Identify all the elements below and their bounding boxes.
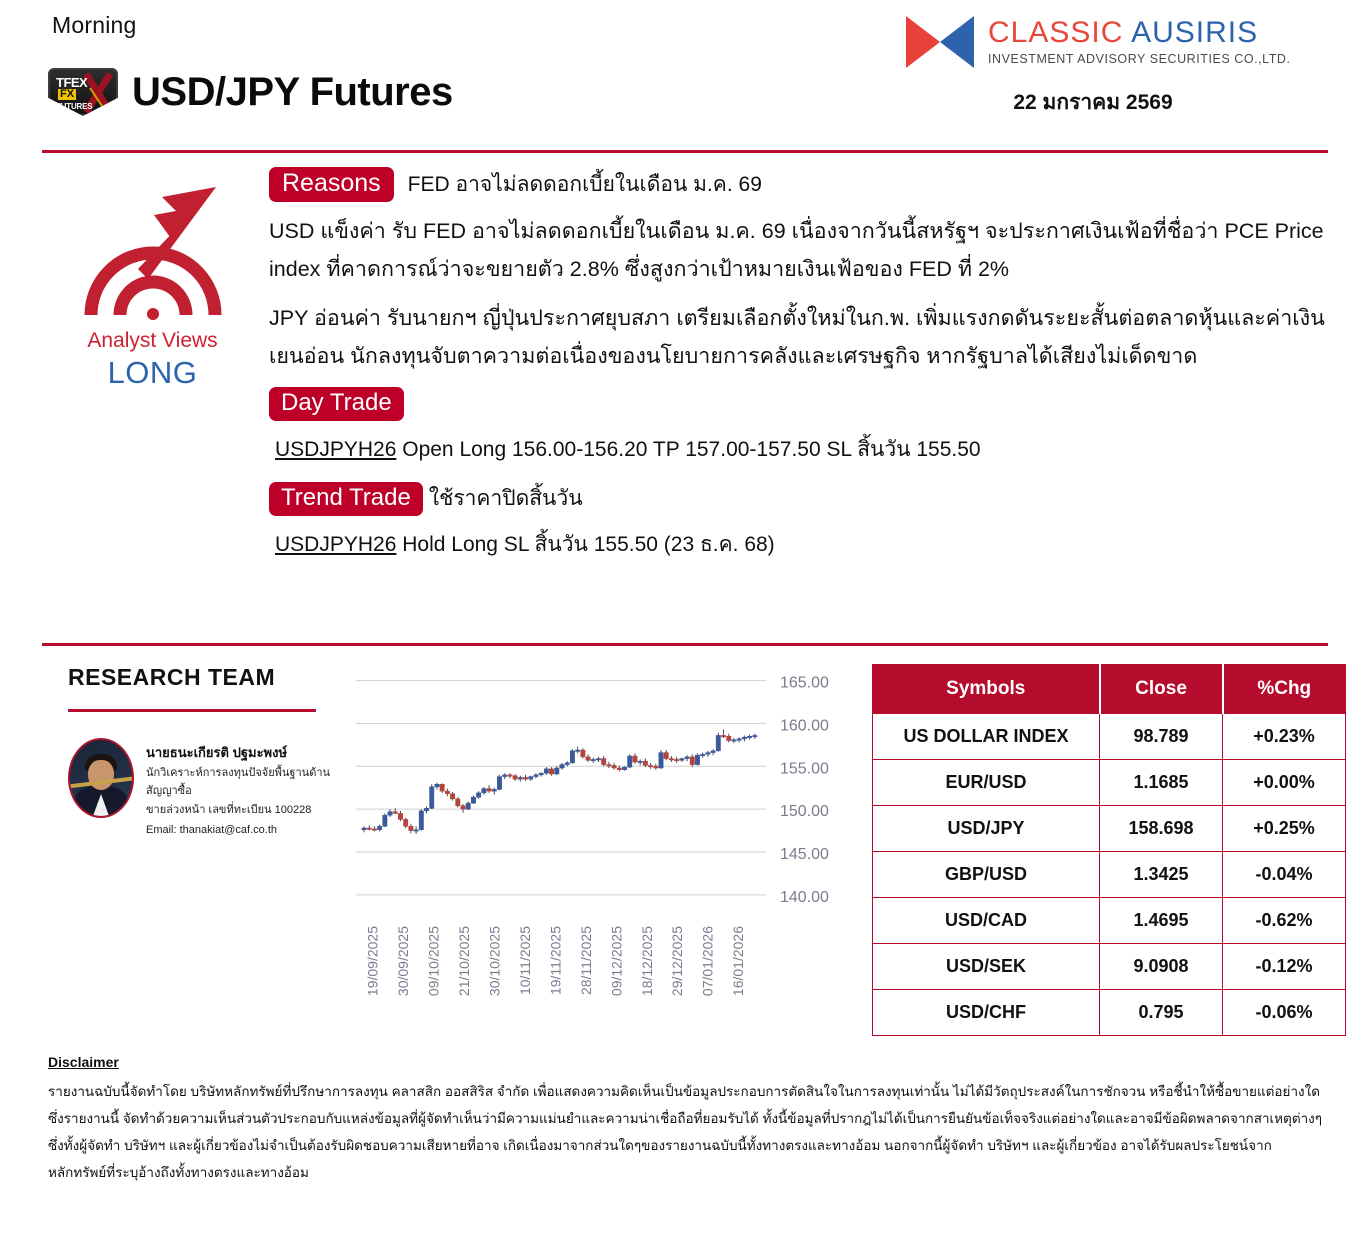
page-title: USD/JPY Futures bbox=[132, 70, 453, 115]
svg-text:07/01/2026: 07/01/2026 bbox=[700, 926, 716, 996]
day-trade-detail: Open Long 156.00-156.20 TP 157.00-157.50… bbox=[402, 438, 980, 461]
usdjpy-candlestick-chart: 140.00145.00150.00155.00160.00165.0019/0… bbox=[348, 664, 858, 1024]
svg-text:19/11/2025: 19/11/2025 bbox=[547, 926, 563, 995]
cell-chg: +0.00% bbox=[1223, 760, 1346, 806]
reasons-header: Reasons FED อาจไม่ลดดอกเบี้ยในเดือน ม.ค.… bbox=[269, 167, 1330, 202]
svg-text:10/11/2025: 10/11/2025 bbox=[517, 926, 533, 995]
reasons-body-2: JPY อ่อนค่า รับนายกฯ ญี่ปุ่นประกาศยุบสภา… bbox=[269, 299, 1330, 376]
report-date: 22 มกราคม 2569 bbox=[904, 86, 1282, 119]
fx-text: FX bbox=[58, 89, 76, 100]
page-header: Morning TFEX FX FUTURES USD/JPY Futures bbox=[40, 0, 1330, 150]
svg-text:09/12/2025: 09/12/2025 bbox=[608, 926, 624, 996]
session-label: Morning bbox=[52, 12, 137, 39]
cell-close: 1.1685 bbox=[1100, 760, 1223, 806]
cell-close: 1.4695 bbox=[1100, 898, 1223, 944]
research-team-underline bbox=[68, 709, 316, 712]
table-header-row: Symbols Close %Chg bbox=[873, 665, 1346, 714]
cell-chg: -0.62% bbox=[1223, 898, 1346, 944]
svg-text:21/10/2025: 21/10/2025 bbox=[456, 926, 472, 996]
col-chg: %Chg bbox=[1223, 665, 1346, 714]
analyst-name: นายธนะเกียรติ ปฐมะพงษ์ bbox=[146, 742, 340, 763]
avatar bbox=[68, 738, 134, 818]
cell-close: 1.3425 bbox=[1100, 852, 1223, 898]
trend-trade-line: USDJPYH26 Hold Long SL สิ้นวัน 155.50 (2… bbox=[275, 528, 1330, 561]
futures-text: FUTURES bbox=[56, 102, 92, 111]
day-trade-symbol: USDJPYH26 bbox=[275, 438, 396, 461]
brand-name-part2: AUSIRIS bbox=[1131, 16, 1258, 49]
brand-name: CLASSIC AUSIRIS bbox=[988, 18, 1291, 48]
reasons-body-1: USD แข็งค่า รับ FED อาจไม่ลดดอกเบี้ยในเด… bbox=[269, 212, 1330, 289]
cell-close: 98.789 bbox=[1100, 714, 1223, 760]
table-row: USD/SEK9.0908-0.12% bbox=[873, 944, 1346, 990]
classic-ausiris-logo-icon bbox=[904, 14, 976, 70]
analyst-email: Email: thanakiat@caf.co.th bbox=[146, 822, 340, 840]
svg-text:30/10/2025: 30/10/2025 bbox=[486, 926, 502, 996]
cell-symbol: GBP/USD bbox=[873, 852, 1100, 898]
reasons-headline: FED อาจไม่ลดดอกเบี้ยในเดือน ม.ค. 69 bbox=[408, 168, 762, 201]
brand-name-part1: CLASSIC bbox=[988, 16, 1123, 49]
research-team-panel: RESEARCH TEAM นายธนะเกียรติ ปฐมะพงษ์ นัก… bbox=[40, 664, 340, 1036]
svg-text:29/12/2025: 29/12/2025 bbox=[669, 926, 685, 996]
table-row: USD/JPY158.698+0.25% bbox=[873, 806, 1346, 852]
disclaimer-section: Disclaimer รายงานฉบับนี้จัดทำโดย บริษัทห… bbox=[40, 1036, 1330, 1186]
svg-text:09/10/2025: 09/10/2025 bbox=[426, 926, 442, 996]
disclaimer-line-4: หลักทรัพย์ที่ระบุอ้างถึงทั้งทางตรงและทาง… bbox=[48, 1159, 1326, 1186]
cell-symbol: EUR/USD bbox=[873, 760, 1100, 806]
col-symbols: Symbols bbox=[873, 665, 1100, 714]
table-row: USD/CHF0.795-0.06% bbox=[873, 990, 1346, 1036]
title-row: TFEX FX FUTURES USD/JPY Futures bbox=[48, 68, 453, 116]
svg-text:145.00: 145.00 bbox=[780, 846, 829, 863]
svg-text:150.00: 150.00 bbox=[780, 803, 829, 820]
table-row: EUR/USD1.1685+0.00% bbox=[873, 760, 1346, 806]
day-trade-badge: Day Trade bbox=[269, 387, 404, 421]
svg-text:155.00: 155.00 bbox=[780, 760, 829, 777]
analyst-role: นักวิเคราะห์การลงทุนปัจจัยพื้นฐานด้านสัญ… bbox=[146, 765, 340, 800]
analysis-section: Analyst Views LONG Reasons FED อาจไม่ลดด… bbox=[40, 153, 1330, 643]
quotes-table: Symbols Close %Chg US DOLLAR INDEX98.789… bbox=[872, 664, 1346, 1036]
target-arrow-icon bbox=[58, 175, 248, 325]
svg-text:28/11/2025: 28/11/2025 bbox=[578, 926, 594, 995]
disclaimer-line-2: ซึ่งรายงานนี้ จัดทำด้วยความเห็นส่วนตัวปร… bbox=[48, 1105, 1326, 1132]
trend-trade-detail: Hold Long SL สิ้นวัน 155.50 (23 ธ.ค. 68) bbox=[402, 533, 774, 556]
svg-text:16/01/2026: 16/01/2026 bbox=[730, 926, 746, 996]
cell-chg: -0.04% bbox=[1223, 852, 1346, 898]
day-trade-line: USDJPYH26 Open Long 156.00-156.20 TP 157… bbox=[275, 433, 1330, 466]
col-close: Close bbox=[1100, 665, 1223, 714]
report-page: Morning TFEX FX FUTURES USD/JPY Futures bbox=[0, 0, 1370, 1240]
svg-text:160.00: 160.00 bbox=[780, 717, 829, 734]
trend-trade-symbol: USDJPYH26 bbox=[275, 533, 396, 556]
analyst-views-label: Analyst Views bbox=[40, 329, 265, 353]
reasons-badge: Reasons bbox=[269, 167, 394, 202]
cell-chg: +0.25% bbox=[1223, 806, 1346, 852]
cell-close: 0.795 bbox=[1100, 990, 1223, 1036]
research-team-title: RESEARCH TEAM bbox=[68, 664, 340, 691]
reasons-panel: Reasons FED อาจไม่ลดดอกเบี้ยในเดือน ม.ค.… bbox=[265, 167, 1330, 643]
tfex-futures-logo: TFEX FX FUTURES bbox=[48, 68, 118, 116]
brand-subtitle: INVESTMENT ADVISORY SECURITIES CO.,LTD. bbox=[988, 53, 1291, 66]
cell-chg: -0.12% bbox=[1223, 944, 1346, 990]
cell-symbol: USD/JPY bbox=[873, 806, 1100, 852]
cell-symbol: USD/SEK bbox=[873, 944, 1100, 990]
disclaimer-title: Disclaimer bbox=[48, 1054, 1326, 1070]
table-row: GBP/USD1.3425-0.04% bbox=[873, 852, 1346, 898]
disclaimer-line-1: รายงานฉบับนี้จัดทำโดย บริษัทหลักทรัพย์ที… bbox=[48, 1078, 1326, 1105]
cell-symbol: USD/CAD bbox=[873, 898, 1100, 944]
svg-text:165.00: 165.00 bbox=[780, 675, 829, 692]
trend-trade-note: ใช้ราคาปิดสิ้นวัน bbox=[429, 482, 583, 515]
svg-text:18/12/2025: 18/12/2025 bbox=[639, 926, 655, 996]
cell-close: 158.698 bbox=[1100, 806, 1223, 852]
cell-symbol: USD/CHF bbox=[873, 990, 1100, 1036]
company-brand: CLASSIC AUSIRIS INVESTMENT ADVISORY SECU… bbox=[904, 14, 1324, 119]
table-row: US DOLLAR INDEX98.789+0.23% bbox=[873, 714, 1346, 760]
svg-text:140.00: 140.00 bbox=[780, 889, 829, 906]
trend-trade-badge: Trend Trade bbox=[269, 482, 423, 516]
analyst-license: ขายล่วงหน้า เลขที่ทะเบียน 100228 bbox=[146, 802, 340, 820]
quotes-table-panel: Symbols Close %Chg US DOLLAR INDEX98.789… bbox=[866, 664, 1348, 1036]
day-trade-section: Day Trade USDJPYH26 Open Long 156.00-156… bbox=[269, 387, 1330, 466]
cell-close: 9.0908 bbox=[1100, 944, 1223, 990]
svg-text:30/09/2025: 30/09/2025 bbox=[395, 926, 411, 996]
trend-trade-section: Trend Trade ใช้ราคาปิดสิ้นวัน USDJPYH26 … bbox=[269, 482, 1330, 561]
analyst-views-panel: Analyst Views LONG bbox=[40, 167, 265, 643]
analyst-view-value: LONG bbox=[40, 355, 265, 391]
analyst-profile: นายธนะเกียรติ ปฐมะพงษ์ นักวิเคราะห์การลง… bbox=[68, 738, 340, 839]
cell-symbol: US DOLLAR INDEX bbox=[873, 714, 1100, 760]
svg-text:19/09/2025: 19/09/2025 bbox=[365, 926, 381, 996]
disclaimer-line-3: ซึ่งทั้งผู้จัดทำ บริษัทฯ และผู้เกี่ยวข้อ… bbox=[48, 1132, 1326, 1159]
lower-section: RESEARCH TEAM นายธนะเกียรติ ปฐมะพงษ์ นัก… bbox=[40, 646, 1330, 1036]
cell-chg: -0.06% bbox=[1223, 990, 1346, 1036]
cell-chg: +0.23% bbox=[1223, 714, 1346, 760]
price-chart: 140.00145.00150.00155.00160.00165.0019/0… bbox=[348, 664, 858, 1036]
table-row: USD/CAD1.4695-0.62% bbox=[873, 898, 1346, 944]
